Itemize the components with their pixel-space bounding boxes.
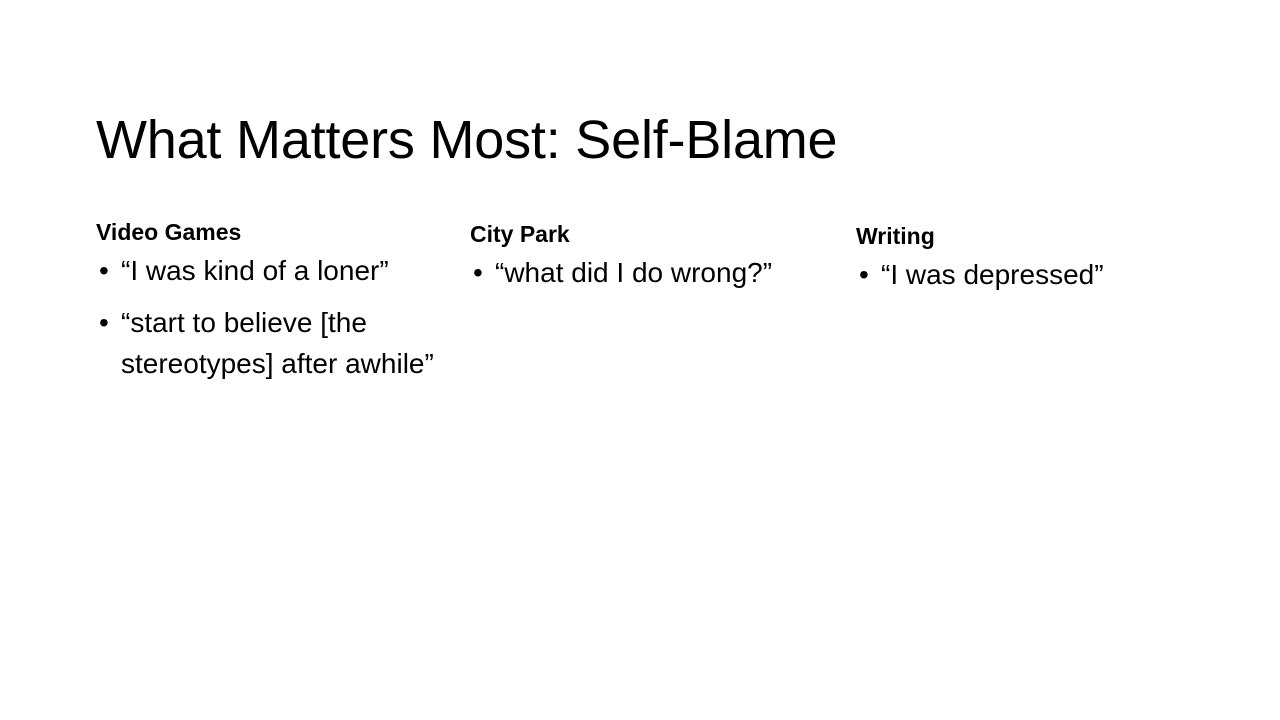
list-item-text: “what did I do wrong?”	[495, 252, 800, 293]
column-video-games: Video Games • “I was kind of a loner” • …	[96, 218, 456, 384]
bullet-list-video-games: • “I was kind of a loner” • “start to be…	[96, 250, 456, 384]
content-columns: Video Games • “I was kind of a loner” • …	[0, 0, 1280, 720]
column-writing: Writing • “I was depressed”	[856, 222, 1186, 295]
column-header-city-park: City Park	[470, 220, 800, 248]
bullet-dot-icon: •	[473, 252, 498, 293]
bullet-dot-icon: •	[99, 302, 124, 343]
bullet-dot-icon: •	[99, 250, 124, 291]
bullet-dot-icon: •	[859, 254, 884, 295]
column-header-video-games: Video Games	[96, 218, 456, 246]
column-city-park: City Park • “what did I do wrong?”	[470, 220, 800, 293]
list-item: • “I was depressed”	[856, 254, 1186, 295]
column-header-writing: Writing	[856, 222, 1186, 250]
list-item: • “I was kind of a loner”	[96, 250, 456, 291]
slide-canvas: What Matters Most: Self-Blame Video Game…	[0, 0, 1280, 720]
list-item-text: “start to believe [the stereotypes] afte…	[121, 302, 456, 384]
list-item: • “start to believe [the stereotypes] af…	[96, 302, 456, 384]
list-item-text: “I was kind of a loner”	[121, 250, 456, 291]
list-item-text: “I was depressed”	[881, 254, 1186, 295]
bullet-list-city-park: • “what did I do wrong?”	[470, 252, 800, 293]
bullet-list-writing: • “I was depressed”	[856, 254, 1186, 295]
list-item: • “what did I do wrong?”	[470, 252, 800, 293]
